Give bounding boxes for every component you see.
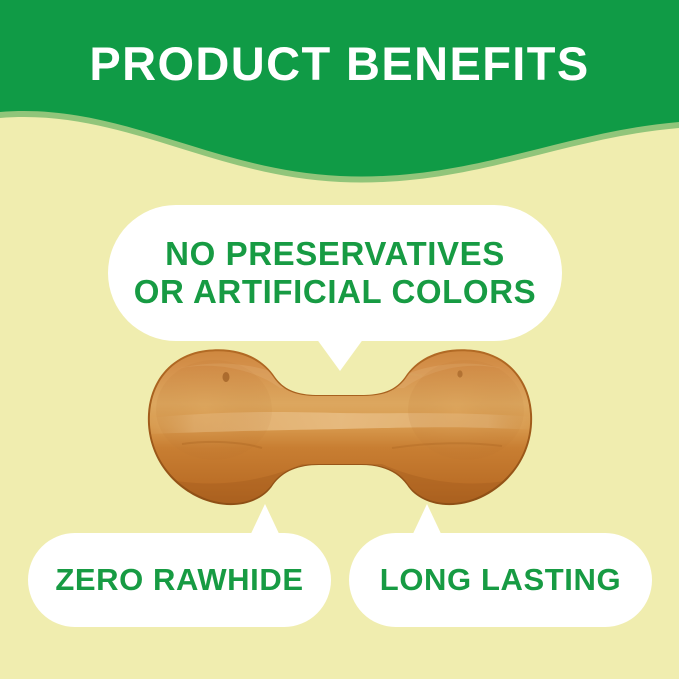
benefit-text-long-lasting: LONG LASTING — [380, 562, 621, 598]
bone-texture-dot-right — [457, 370, 462, 377]
benefit-bubble-zero-rawhide: ZERO RAWHIDE — [28, 533, 331, 627]
page-title: PRODUCT BENEFITS — [0, 38, 679, 90]
benefit-text-no-preservatives: NO PRESERVATIVES OR ARTIFICIAL COLORS — [134, 235, 537, 312]
benefit-line-2: OR ARTIFICIAL COLORS — [134, 273, 537, 311]
bone-texture-streak-3 — [292, 370, 422, 376]
bone-knob-left-shade — [156, 360, 272, 460]
benefit-text-zero-rawhide: ZERO RAWHIDE — [55, 562, 303, 598]
header-wave-graphic — [0, 0, 679, 210]
benefit-bubble-long-lasting: LONG LASTING — [349, 533, 652, 627]
benefit-line-1: NO PRESERVATIVES — [134, 235, 537, 273]
product-benefits-poster: PRODUCT BENEFITS — [0, 0, 679, 679]
benefit-bubble-no-preservatives: NO PRESERVATIVES OR ARTIFICIAL COLORS — [108, 205, 562, 341]
callout-tail-top — [316, 338, 364, 371]
bone-texture-dot-left — [223, 372, 230, 382]
